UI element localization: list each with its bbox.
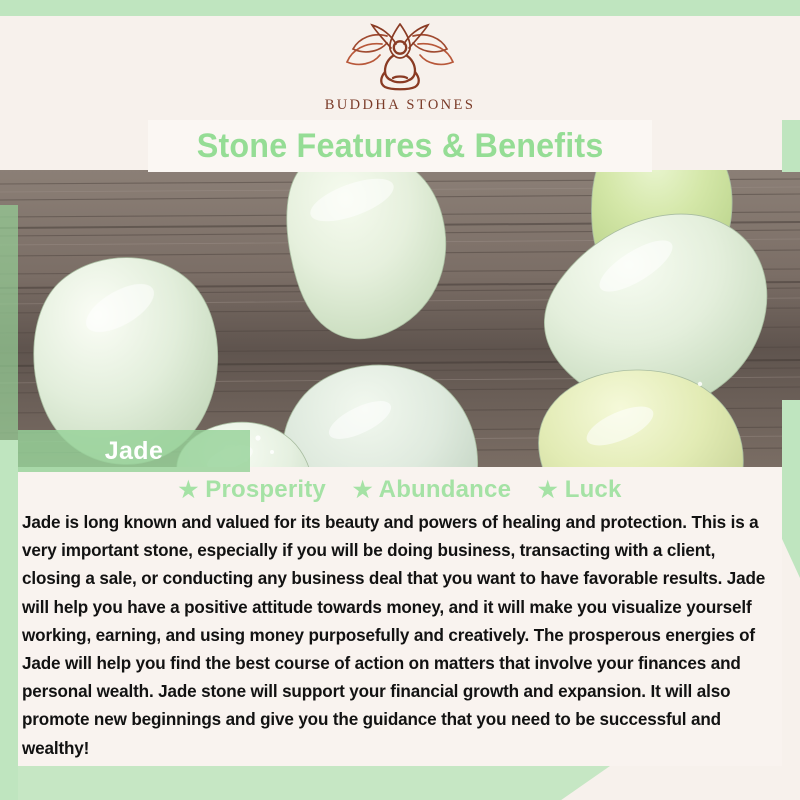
star-icon-3: ★ [538, 477, 558, 502]
content-panel: ★ Prosperity ★ Abundance ★ Luck Jade is … [18, 467, 782, 766]
lotus-meditation-logo-icon [325, 22, 475, 94]
stone-name-label: Jade [18, 430, 250, 472]
star-icon-1: ★ [178, 477, 198, 502]
page-title: Stone Features & Benefits [197, 127, 604, 166]
stone-name-text: Jade [105, 437, 164, 466]
benefit-prosperity: Prosperity [205, 476, 326, 503]
decorative-band-left-photo [0, 205, 18, 467]
page-title-banner: Stone Features & Benefits [148, 120, 652, 172]
decorative-band-left-lower [0, 440, 18, 800]
benefits-row: ★ Prosperity ★ Abundance ★ Luck [18, 476, 782, 504]
stone-info-poster: BUDDHA STONES Stone Features & Benefits [0, 0, 800, 800]
brand-name: BUDDHA STONES [325, 97, 476, 114]
star-icon-2: ★ [353, 477, 373, 502]
stone-description: Jade is long known and valued for its be… [22, 509, 778, 763]
decorative-band-bottom [0, 766, 610, 800]
decorative-band-top [0, 0, 800, 16]
benefit-abundance: Abundance [379, 476, 511, 503]
stone-photo [0, 170, 800, 467]
brand-header: BUDDHA STONES [0, 16, 800, 120]
benefit-luck: Luck [565, 476, 622, 503]
brand-logo: BUDDHA STONES [325, 16, 476, 114]
decorative-band-right-lower [782, 400, 800, 578]
